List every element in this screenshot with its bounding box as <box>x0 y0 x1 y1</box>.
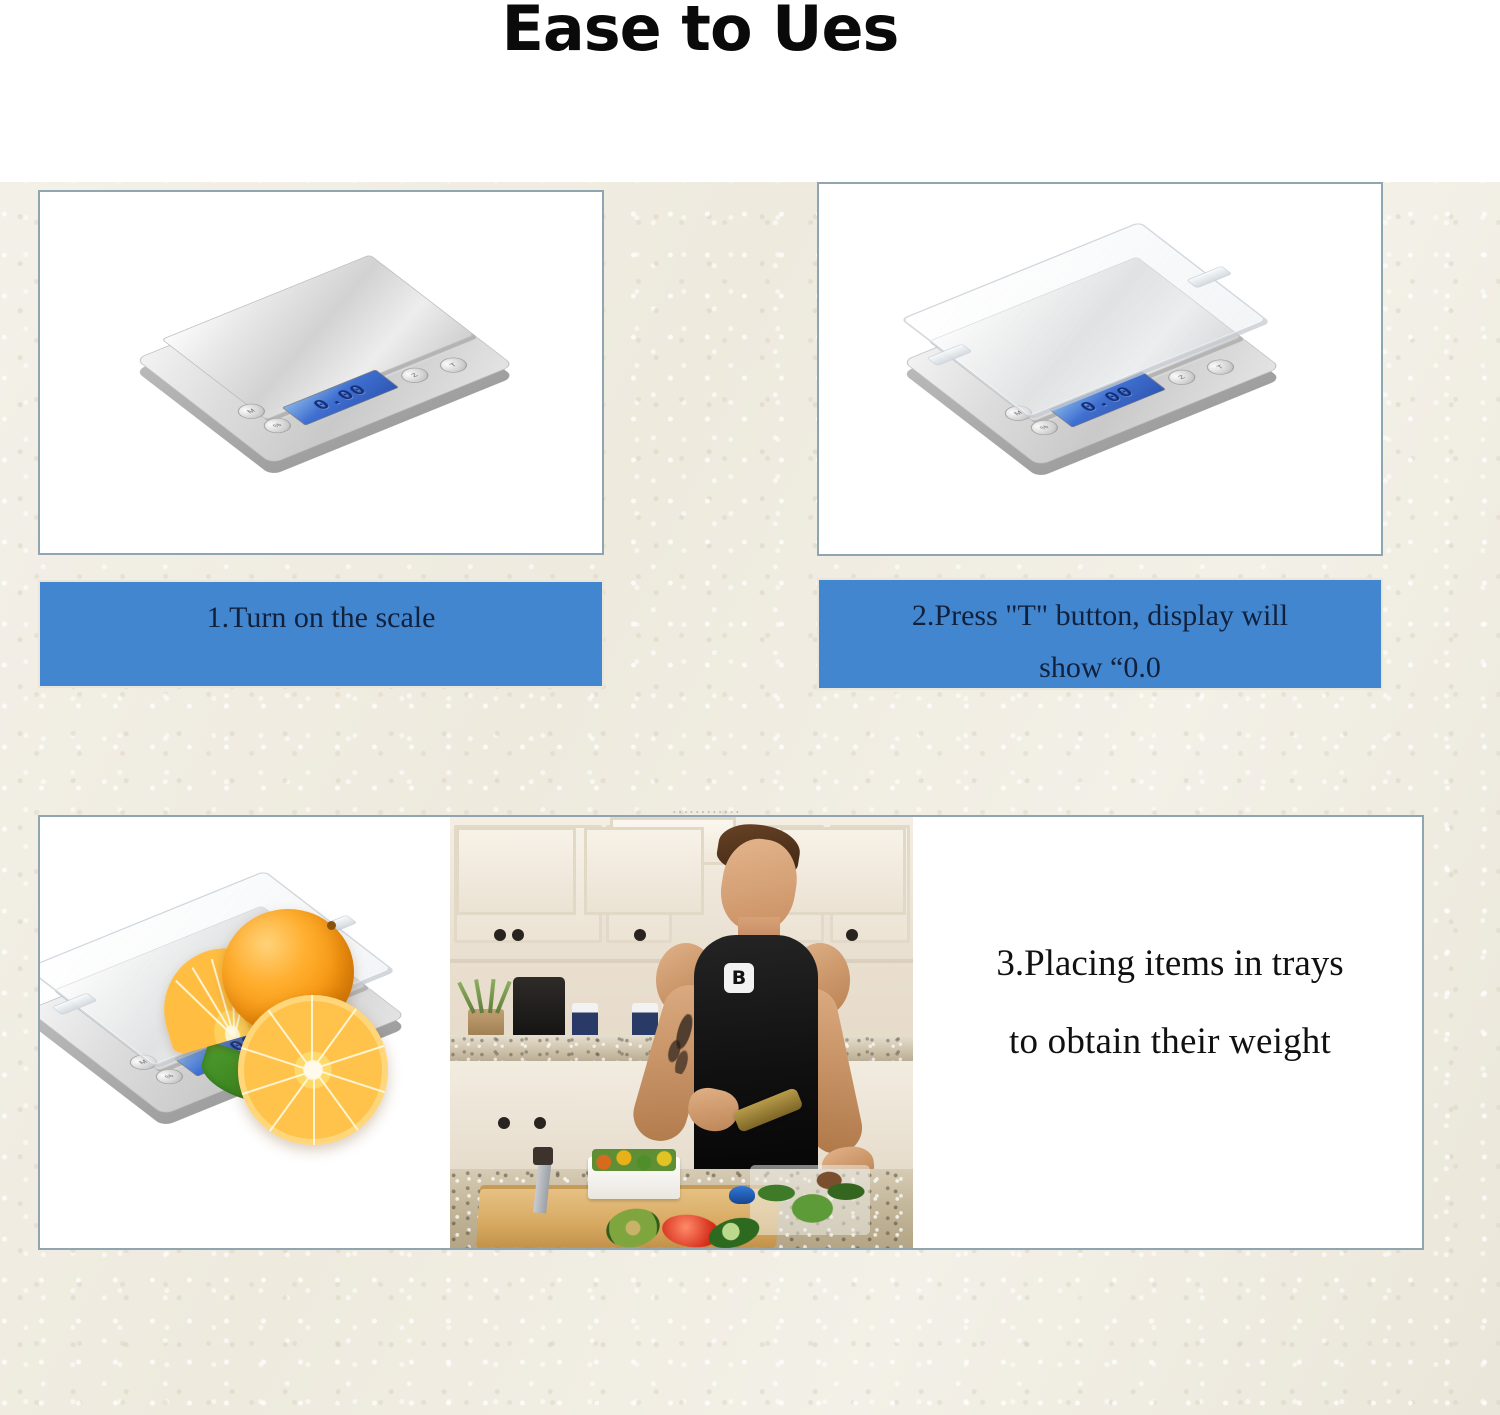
chopped-vegetables <box>592 1149 676 1171</box>
knife-handle <box>533 1147 553 1165</box>
orange-half-slice <box>238 995 388 1145</box>
orange-navel <box>327 921 336 930</box>
drawer-knob <box>498 1117 510 1129</box>
potted-plant <box>462 979 510 1039</box>
salad-container <box>750 1165 870 1235</box>
step-2-caption-line2: show “0.0 <box>819 642 1381 694</box>
blue-bottle-cap <box>729 1186 755 1204</box>
supplement-jar <box>572 1003 598 1039</box>
step-1-image-panel: M % Z T 0.00 <box>38 190 604 555</box>
step-1-caption-text: 1.Turn on the scale <box>207 601 436 634</box>
step-2-caption-line1: 2.Press "T" button, display will <box>819 590 1381 642</box>
step-3-caption-line2: to obtain their weight <box>930 1003 1410 1081</box>
cabinet-knob <box>494 929 506 941</box>
step-3-caption-line1: 3.Placing items in trays <box>930 925 1410 1003</box>
cabinet-knob <box>512 929 524 941</box>
step-2-caption-bar: 2.Press "T" button, display will show “0… <box>817 578 1383 690</box>
step-3-caption: 3.Placing items in trays to obtain their… <box>930 925 1410 1081</box>
tray-handle-right <box>1186 266 1232 289</box>
lower-cabinet-door <box>456 827 576 915</box>
step-1-caption-bar: 1.Turn on the scale <box>38 580 604 688</box>
orange-core <box>304 1061 322 1079</box>
shirt-logo: B <box>724 963 754 993</box>
coffee-maker <box>513 977 565 1039</box>
kitchen-lifestyle-photo: B <box>450 817 913 1248</box>
black-tank-top <box>694 935 818 1187</box>
cabinet-knob <box>846 929 858 941</box>
step-2-image-panel: M % Z T 0.00 <box>817 182 1383 556</box>
page-title: Ease to Ues <box>0 0 1400 62</box>
drawer-knob <box>534 1117 546 1129</box>
